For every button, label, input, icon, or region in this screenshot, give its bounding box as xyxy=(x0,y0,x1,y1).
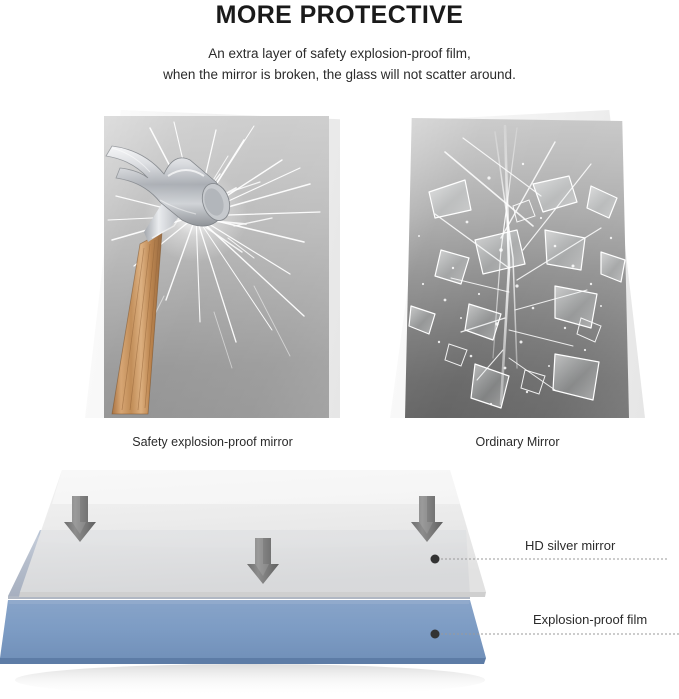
caption-ordinary-mirror: Ordinary Mirror xyxy=(390,435,645,449)
subtitle-line-1: An extra layer of safety explosion-proof… xyxy=(208,46,471,61)
panel-ordinary-mirror xyxy=(390,110,645,420)
comparison-section: Safety explosion-proof mirror Ordinary M… xyxy=(0,110,679,450)
layer-glass-plate xyxy=(19,470,486,597)
hammer-handle-graphic xyxy=(112,232,162,414)
subtitle: An extra layer of safety explosion-proof… xyxy=(0,30,679,85)
layer-explosion-proof-film xyxy=(0,600,486,664)
subtitle-line-2: when the mirror is broken, the glass wil… xyxy=(163,67,516,82)
layer-diagram xyxy=(0,458,679,699)
header: MORE PROTECTIVE An extra layer of safety… xyxy=(0,0,679,85)
safety-mirror-face xyxy=(104,116,329,418)
panel-safety-mirror xyxy=(85,110,340,420)
ordinary-mirror-face xyxy=(405,118,629,418)
layer-diagram-graphic xyxy=(0,458,679,699)
shattering-glass-graphic xyxy=(405,118,629,418)
cracked-mirror-graphic xyxy=(104,116,329,418)
label-explosion-proof-film: Explosion-proof film xyxy=(533,612,647,627)
caption-safety-mirror: Safety explosion-proof mirror xyxy=(85,435,340,449)
page-title: MORE PROTECTIVE xyxy=(0,0,679,30)
label-hd-silver-mirror: HD silver mirror xyxy=(525,538,615,553)
